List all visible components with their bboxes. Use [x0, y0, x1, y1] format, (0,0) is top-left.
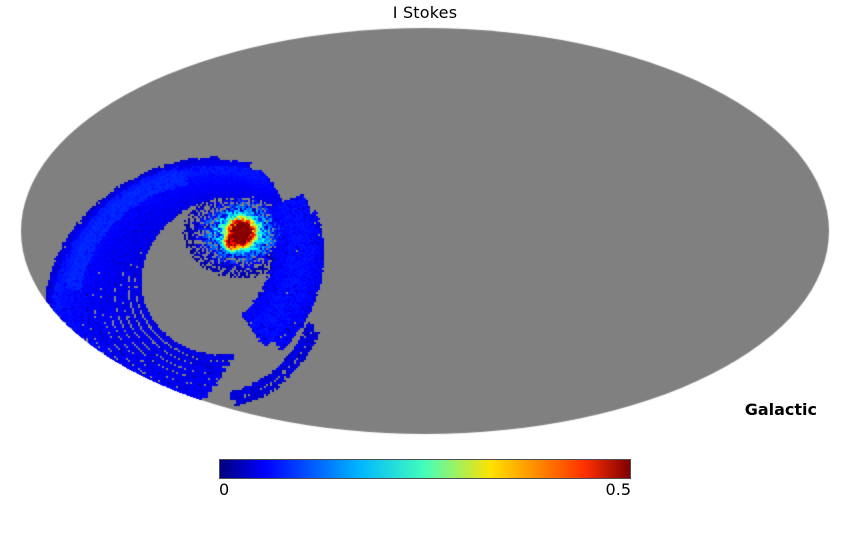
coordinate-system-label: Galactic [745, 400, 817, 419]
mollweide-sky-map [0, 0, 850, 450]
colorbar-gradient [220, 460, 630, 478]
figure-canvas: I Stokes Galactic 0 0.5 [0, 0, 850, 540]
colorbar: 0 0.5 [0, 455, 850, 505]
colorbar-min-label: 0 [219, 480, 229, 499]
colorbar-frame [219, 459, 631, 479]
colorbar-max-label: 0.5 [606, 480, 631, 499]
